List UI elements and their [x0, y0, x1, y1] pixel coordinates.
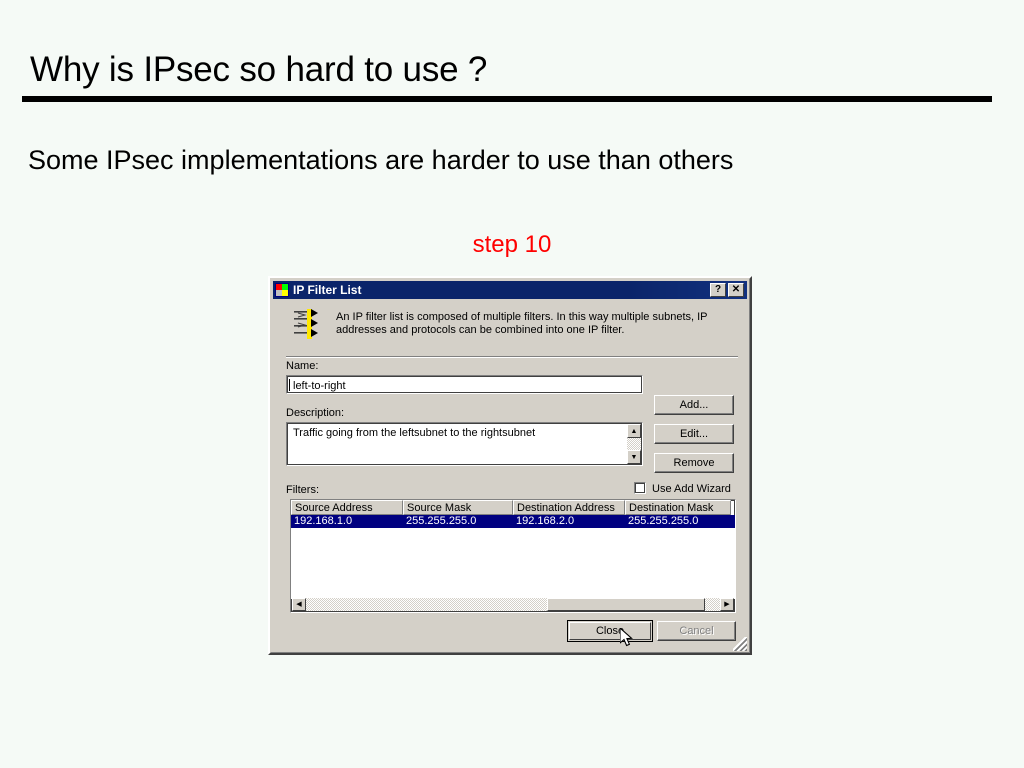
- name-input[interactable]: left-to-right: [286, 375, 643, 394]
- table-row[interactable]: 192.168.1.0 255.255.255.0 192.168.2.0 25…: [291, 515, 735, 528]
- ip-filter-list-icon: [275, 283, 289, 297]
- dialog-title: IP Filter List: [293, 281, 710, 299]
- close-button-label: Close: [596, 625, 624, 637]
- edit-button[interactable]: Edit...: [654, 424, 734, 444]
- listview-scroll-thumb[interactable]: [547, 598, 705, 611]
- page-title: Why is IPsec so hard to use ?: [30, 50, 487, 90]
- cell-destination-address: 192.168.2.0: [513, 515, 625, 528]
- listview-header: Source Address Source Mask Destination A…: [291, 500, 731, 515]
- listview-body: [291, 528, 735, 599]
- title-divider: [22, 96, 992, 102]
- use-add-wizard-checkbox[interactable]: [634, 482, 646, 494]
- name-label: Name:: [286, 360, 318, 372]
- column-header-destination-mask[interactable]: Destination Mask: [625, 500, 731, 515]
- cancel-button-label: Cancel: [679, 625, 713, 637]
- column-header-source-mask[interactable]: Source Mask: [403, 500, 513, 515]
- filters-listview[interactable]: Source Address Source Mask Destination A…: [290, 499, 736, 613]
- cancel-button: Cancel: [657, 621, 736, 641]
- description-scroll-up-button[interactable]: ▲: [627, 424, 641, 438]
- resize-grip[interactable]: [733, 637, 747, 651]
- description-value: Traffic going from the leftsubnet to the…: [290, 425, 620, 441]
- description-textarea[interactable]: Traffic going from the leftsubnet to the…: [286, 422, 643, 466]
- column-header-destination-address[interactable]: Destination Address: [513, 500, 625, 515]
- titlebar-buttons: ? ✕: [710, 283, 745, 297]
- cell-source-mask: 255.255.255.0: [403, 515, 513, 528]
- add-button[interactable]: Add...: [654, 395, 734, 415]
- listview-scroll-left-button[interactable]: ◀: [292, 598, 306, 611]
- dialog-titlebar[interactable]: IP Filter List ? ✕: [273, 281, 747, 299]
- filter-arrows-icon: [292, 308, 322, 342]
- name-input-value: left-to-right: [290, 378, 349, 394]
- remove-button-label: Remove: [674, 457, 715, 469]
- description-label: Description:: [286, 407, 344, 419]
- edit-button-label: Edit...: [680, 428, 708, 440]
- header-divider: [286, 356, 738, 358]
- description-scroll-down-button[interactable]: ▼: [627, 450, 641, 464]
- dialog-description-text: An IP filter list is composed of multipl…: [336, 311, 716, 337]
- description-scroll-track[interactable]: [627, 438, 641, 450]
- filters-label: Filters:: [286, 484, 319, 496]
- column-header-source-address[interactable]: Source Address: [291, 500, 403, 515]
- close-button[interactable]: Close: [567, 620, 653, 642]
- help-icon[interactable]: ?: [710, 283, 726, 297]
- use-add-wizard-label: Use Add Wizard: [652, 483, 731, 495]
- remove-button[interactable]: Remove: [654, 453, 734, 473]
- add-button-label: Add...: [680, 399, 709, 411]
- cell-destination-mask: 255.255.255.0: [625, 515, 731, 528]
- slide-subtitle: Some IPsec implementations are harder to…: [28, 145, 733, 176]
- step-label: step 10: [0, 231, 1024, 259]
- cell-source-address: 192.168.1.0: [291, 515, 403, 528]
- close-icon[interactable]: ✕: [728, 283, 744, 297]
- listview-scroll-right-button[interactable]: ▶: [720, 598, 734, 611]
